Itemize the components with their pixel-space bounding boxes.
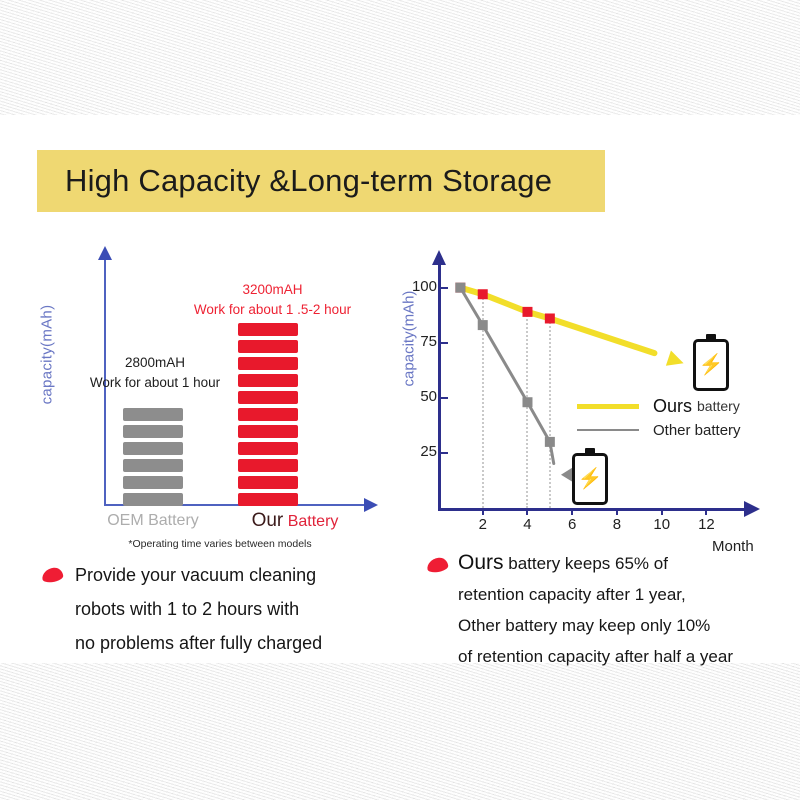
left-chart-y-axis-arrow-icon (98, 246, 112, 260)
bar-segment (238, 340, 298, 353)
our-battery-caption-strong: Our (252, 510, 284, 531)
data-point-marker (522, 307, 532, 317)
bar-segment (238, 374, 298, 387)
bar-segment (238, 323, 298, 336)
data-point-marker (455, 283, 465, 293)
legend-label-other: Other battery (653, 422, 741, 439)
data-point-marker (478, 289, 488, 299)
bar-segment (238, 459, 298, 472)
battery-bolt-icon-other: ⚡ (572, 448, 608, 505)
bar-segment (123, 459, 183, 472)
left-description-line: Provide your vacuum cleaning (75, 558, 375, 592)
left-chart-footnote: *Operating time varies between models (40, 538, 400, 550)
legend-swatch-ours-icon (577, 404, 639, 409)
data-point-marker (522, 397, 532, 407)
right-chart-legend: Ours battery Other battery (577, 394, 741, 442)
battery-body: ⚡ (572, 453, 608, 505)
data-point-marker (545, 313, 555, 323)
page-title: High Capacity &Long-term Storage (37, 163, 552, 199)
right-description-line: Other battery may keep only 10% (458, 610, 788, 641)
bar-segment (238, 493, 298, 506)
data-point-marker (545, 437, 555, 447)
left-description-block: Provide your vacuum cleaning robots with… (75, 558, 375, 660)
bar-segment (238, 408, 298, 421)
right-description-ours-strong: Ours (458, 551, 504, 574)
battery-bolt-icon-ours: ⚡ (693, 334, 729, 391)
series-arrow-icon (666, 351, 686, 371)
left-description-line: no problems after fully charged (75, 626, 375, 660)
left-description-line: robots with 1 to 2 hours with (75, 592, 375, 626)
capacity-bar-chart: capacity(mAh) 3200mAH Work for about 1 .… (20, 250, 385, 550)
bar-segment (123, 408, 183, 421)
legend-swatch-other-icon (577, 429, 639, 431)
title-banner: High Capacity &Long-term Storage (37, 150, 605, 212)
right-description-ours-rest: battery keeps 65% of (504, 554, 668, 573)
oem-battery-bar (123, 408, 183, 506)
bar-segment (123, 493, 183, 506)
our-battery-bar (238, 323, 298, 506)
right-description-line: retention capacity after 1 year, (458, 579, 788, 610)
right-description-block: Ours battery keeps 65% of retention capa… (458, 547, 788, 672)
series-line (460, 288, 654, 354)
bar-segment (238, 357, 298, 370)
our-battery-caption-rest: Battery (288, 513, 339, 530)
bar-segment (123, 425, 183, 438)
bar-segment (238, 476, 298, 489)
page-background: High Capacity &Long-term Storage capacit… (0, 0, 800, 800)
bar-segment (123, 476, 183, 489)
oem-battery-annotation: 2800mAH Work for about 1 hour (65, 353, 245, 393)
right-description-line: of retention capacity after half a year (458, 641, 788, 672)
our-battery-annotation: 3200mAH Work for about 1 .5-2 hour (180, 280, 365, 320)
retention-line-chart: capacity(mAh) 25507510024681012 Month Ou… (382, 250, 782, 550)
legend-label-ours-rest: battery (697, 398, 740, 414)
bar-segment (238, 425, 298, 438)
bar-segment (238, 442, 298, 455)
lightning-bolt-icon: ⚡ (578, 469, 603, 489)
legend-item-other: Other battery (577, 418, 741, 442)
our-battery-capacity-value: 3200mAH (180, 280, 365, 300)
oem-battery-runtime: Work for about 1 hour (65, 373, 245, 393)
data-point-marker (478, 320, 488, 330)
our-battery-runtime: Work for about 1 .5-2 hour (180, 300, 365, 320)
bar-segment (238, 391, 298, 404)
legend-item-ours: Ours battery (577, 394, 741, 418)
right-description-line-first: Ours battery keeps 65% of (458, 547, 788, 579)
battery-body: ⚡ (693, 339, 729, 391)
bar-segment (123, 442, 183, 455)
oem-battery-capacity-value: 2800mAH (65, 353, 245, 373)
left-chart-y-axis-label: capacity(mAh) (39, 265, 56, 445)
lightning-bolt-icon: ⚡ (699, 355, 724, 375)
legend-label-ours-strong: Ours (653, 396, 692, 417)
our-battery-axis-caption: Our Battery (205, 510, 385, 532)
